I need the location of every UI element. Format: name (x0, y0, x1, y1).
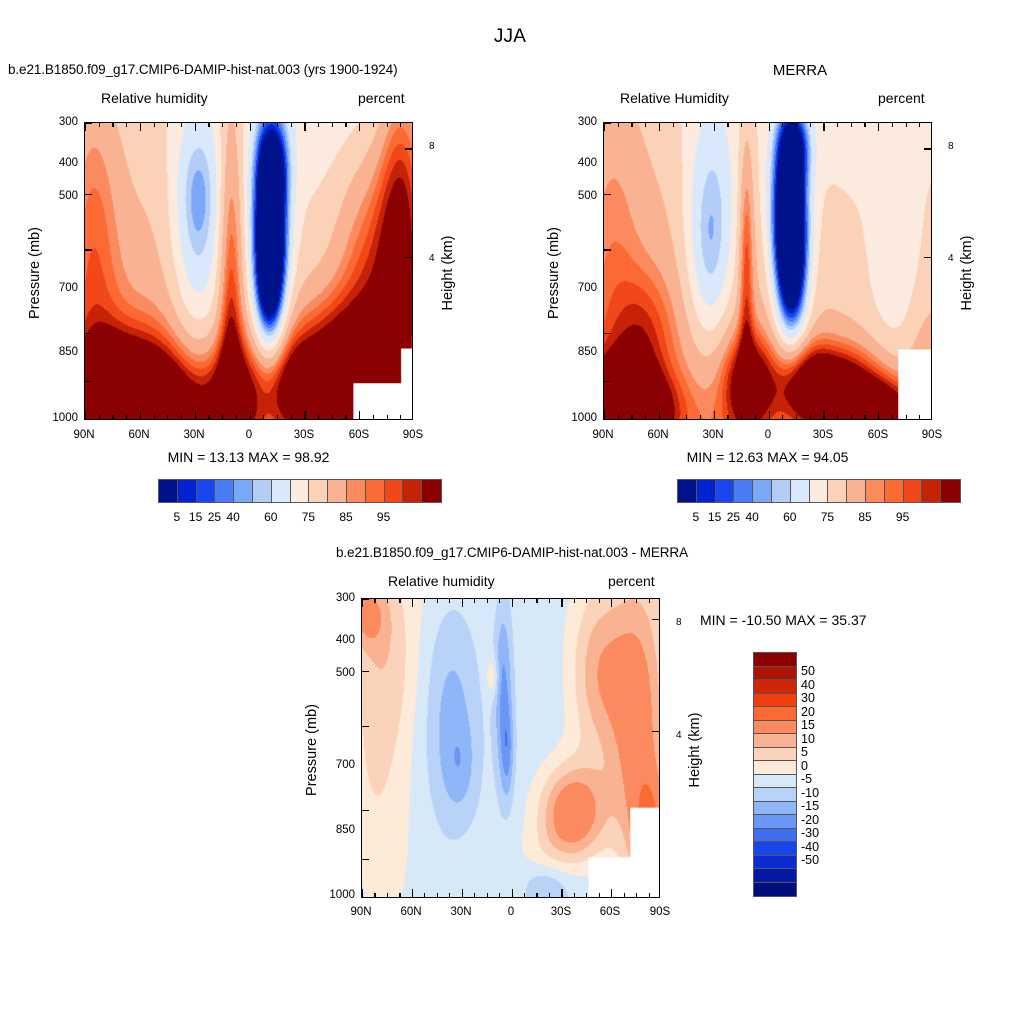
colorbar-cell (328, 480, 347, 502)
axis-tick-minor (126, 123, 127, 127)
minmax-merra: MIN = 12.63 MAX = 94.05 (603, 449, 932, 465)
ytick-500-difference: 500 (325, 667, 355, 679)
axis-tick-major (611, 889, 612, 897)
axis-tick-minor (741, 123, 742, 127)
axis-tick-minor (700, 415, 701, 419)
axis-tick-major (362, 889, 363, 897)
axis-tick-height (924, 257, 931, 258)
axis-tick-minor (796, 123, 797, 127)
axis-tick-minor (332, 415, 333, 419)
colorbar-cell (215, 480, 234, 502)
xtick-30N-model: 30N (179, 429, 209, 441)
axis-tick-minor (536, 893, 537, 897)
colorbar-tick-label: 40 (737, 510, 767, 524)
axis-tick-minor (549, 893, 550, 897)
xtick-60N-merra: 60N (643, 429, 673, 441)
axis-tick-pressure (604, 333, 611, 334)
axis-tick-pressure (362, 671, 369, 672)
ytick-1000-difference: 1000 (319, 889, 355, 901)
colorbar-tick-label: 75 (293, 510, 323, 524)
colorbar-tick-label: -10 (801, 786, 835, 800)
axis-tick-height (652, 731, 659, 732)
axis-tick-minor (837, 123, 838, 127)
xtick-90N-model: 90N (69, 429, 99, 441)
axis-tick-major (304, 123, 305, 131)
colorbar-cell (272, 480, 291, 502)
xtick-0-model: 0 (234, 429, 264, 441)
axis-tick-minor (782, 123, 783, 127)
ytick-300-merra: 300 (567, 116, 597, 128)
axis-tick-minor (126, 415, 127, 419)
y2-axis-label-merra: Height (km) (959, 213, 975, 333)
colorbar-cell (754, 829, 796, 843)
axis-tick-minor (424, 893, 425, 897)
axis-tick-major (561, 889, 562, 897)
colorbar-tick-label: -5 (801, 772, 835, 786)
axis-tick-major (604, 411, 605, 419)
axis-tick-minor (236, 415, 237, 419)
axis-tick-minor (645, 123, 646, 127)
axis-tick-minor (649, 893, 650, 897)
colorbar-cell (754, 815, 796, 829)
colorbar-cell (178, 480, 197, 502)
axis-tick-major (714, 123, 715, 131)
colorbar-cell (754, 788, 796, 802)
axis-tick-major (195, 123, 196, 131)
ytick-500-merra: 500 (567, 190, 597, 202)
axis-tick-minor (892, 415, 893, 419)
axis-tick-minor (167, 123, 168, 127)
colorbar-cell (904, 480, 923, 502)
axis-tick-minor (400, 123, 401, 127)
colorbar-tick-label: 85 (331, 510, 361, 524)
axis-tick-minor (437, 893, 438, 897)
colorbar-cell (754, 653, 796, 667)
axis-tick-minor (755, 123, 756, 127)
axis-tick-height (405, 257, 412, 258)
axis-tick-minor (222, 123, 223, 127)
axis-tick-minor (851, 123, 852, 127)
y-axis-label-difference: Pressure (mb) (304, 690, 320, 810)
axis-tick-minor (400, 415, 401, 419)
axis-tick-pressure (362, 810, 369, 811)
axis-tick-major (769, 411, 770, 419)
colorbar-cell (772, 480, 791, 502)
xtick-90S-merra: 90S (917, 429, 947, 441)
axis-tick-minor (624, 893, 625, 897)
y-axis-label-merra: Pressure (mb) (546, 213, 562, 333)
axis-tick-minor (864, 415, 865, 419)
variable-label-merra: Relative Humidity (620, 90, 729, 106)
axis-tick-minor (796, 415, 797, 419)
axis-tick-pressure (85, 194, 92, 195)
axis-tick-minor (263, 123, 264, 127)
axis-tick-major (878, 123, 879, 131)
axis-tick-minor (374, 893, 375, 897)
xtick-30N-difference: 30N (446, 906, 476, 918)
axis-tick-minor (332, 123, 333, 127)
colorbar-cell (366, 480, 385, 502)
axis-tick-minor (536, 599, 537, 603)
axis-tick-pressure (362, 726, 369, 727)
axis-tick-minor (700, 123, 701, 127)
axis-tick-minor (99, 415, 100, 419)
axis-tick-minor (167, 415, 168, 419)
axis-tick-minor (782, 415, 783, 419)
axis-tick-major (769, 123, 770, 131)
axis-tick-minor (487, 893, 488, 897)
axis-tick-pressure (85, 249, 92, 250)
axis-tick-minor (437, 599, 438, 603)
colorbar-cell (754, 748, 796, 762)
axis-tick-minor (727, 415, 728, 419)
axis-tick-minor (810, 123, 811, 127)
y-axis-label-model: Pressure (mb) (27, 213, 43, 333)
colorbar-tick-label: 15 (801, 718, 835, 732)
units-label-model: percent (358, 90, 405, 106)
axis-tick-minor (374, 599, 375, 603)
colorbar-tick-label: 95 (888, 510, 918, 524)
axis-tick-minor (487, 599, 488, 603)
axis-tick-minor (222, 415, 223, 419)
axis-tick-minor (686, 123, 687, 127)
colorbar-tick-label: 30 (801, 691, 835, 705)
colorbar-cell (754, 707, 796, 721)
ytick-500-model: 500 (48, 190, 78, 202)
axis-tick-minor (499, 599, 500, 603)
axis-tick-minor (574, 893, 575, 897)
xtick-60S-merra: 60S (863, 429, 893, 441)
axis-tick-major (823, 411, 824, 419)
axis-tick-minor (649, 599, 650, 603)
axis-tick-major (462, 889, 463, 897)
variable-label-difference: Relative humidity (388, 573, 495, 589)
contour-field-difference (362, 599, 659, 897)
axis-tick-minor (373, 415, 374, 419)
axis-tick-major (878, 411, 879, 419)
colorbar-tick-label: -20 (801, 813, 835, 827)
axis-tick-minor (810, 415, 811, 419)
axis-tick-minor (645, 415, 646, 419)
axis-tick-minor (236, 123, 237, 127)
colorbar-cell (197, 480, 216, 502)
xtick-60N-difference: 60N (396, 906, 426, 918)
ytick-850-merra: 850 (567, 346, 597, 358)
colorbar-cell (922, 480, 941, 502)
colorbar-cell (754, 856, 796, 870)
axis-tick-pressure (604, 249, 611, 250)
colorbar-cell (347, 480, 366, 502)
axis-tick-pressure (604, 194, 611, 195)
axis-tick-height (652, 619, 659, 620)
axis-tick-pressure (362, 859, 369, 860)
y2tick-4-difference: 4 (676, 730, 682, 741)
colorbar-tick-label: 40 (218, 510, 248, 524)
axis-tick-major (304, 411, 305, 419)
axis-tick-minor (499, 893, 500, 897)
colorbar-cell (754, 680, 796, 694)
axis-tick-minor (636, 893, 637, 897)
axis-tick-minor (291, 123, 292, 127)
axis-tick-pressure (604, 123, 611, 124)
minmax-model: MIN = 13.13 MAX = 98.92 (84, 449, 413, 465)
colorbar-cell (866, 480, 885, 502)
axis-tick-minor (586, 893, 587, 897)
colorbar-cell (697, 480, 716, 502)
minmax-difference: MIN = -10.50 MAX = 35.37 (700, 612, 867, 628)
axis-tick-pressure (85, 123, 92, 124)
axis-tick-minor (906, 123, 907, 127)
colorbar-cell (253, 480, 272, 502)
axis-tick-pressure (604, 381, 611, 382)
colorbar-cell (754, 883, 796, 897)
axis-tick-minor (631, 123, 632, 127)
colorbar-tick-label: -50 (801, 853, 835, 867)
xtick-90S-model: 90S (398, 429, 428, 441)
ytick-400-model: 400 (48, 157, 78, 169)
axis-tick-minor (277, 123, 278, 127)
units-label-merra: percent (878, 90, 925, 106)
contour-field-merra (604, 123, 931, 419)
colorbar-cell (754, 667, 796, 681)
axis-tick-minor (864, 123, 865, 127)
axis-tick-minor (318, 415, 319, 419)
axis-tick-minor (387, 415, 388, 419)
xtick-60N-model: 60N (124, 429, 154, 441)
y2tick-8-model: 8 (429, 141, 435, 152)
axis-tick-minor (387, 893, 388, 897)
axis-tick-minor (892, 123, 893, 127)
xtick-60S-model: 60S (344, 429, 374, 441)
axis-tick-minor (112, 123, 113, 127)
colorbar-difference (753, 652, 797, 897)
colorbar-cell (716, 480, 735, 502)
axis-tick-minor (549, 599, 550, 603)
axis-tick-minor (727, 123, 728, 127)
colorbar-cell (754, 842, 796, 856)
axis-tick-minor (387, 599, 388, 603)
axis-tick-minor (474, 893, 475, 897)
colorbar-tick-label: 10 (801, 732, 835, 746)
panel-title-model: b.e21.B1850.f09_g17.CMIP6-DAMIP-hist-nat… (8, 62, 397, 77)
axis-tick-minor (373, 123, 374, 127)
ytick-850-difference: 850 (325, 824, 355, 836)
colorbar-cell (234, 480, 253, 502)
axis-tick-minor (686, 415, 687, 419)
xtick-30S-merra: 30S (808, 429, 838, 441)
colorbar-cell (422, 480, 441, 502)
colorbar-tick-label: 50 (801, 664, 835, 678)
y2tick-8-merra: 8 (948, 141, 954, 152)
axis-tick-minor (181, 123, 182, 127)
axis-tick-minor (112, 415, 113, 419)
colorbar-cell (754, 694, 796, 708)
axis-tick-minor (755, 415, 756, 419)
colorbar-tick-label: 5 (801, 745, 835, 759)
axis-tick-major (659, 411, 660, 419)
ytick-1000-merra: 1000 (561, 412, 597, 424)
axis-tick-minor (449, 599, 450, 603)
axis-tick-minor (631, 415, 632, 419)
ytick-300-model: 300 (48, 116, 78, 128)
axis-tick-height (924, 148, 931, 149)
ytick-400-merra: 400 (567, 157, 597, 169)
axis-tick-minor (636, 599, 637, 603)
axis-tick-minor (154, 123, 155, 127)
axis-tick-minor (291, 415, 292, 419)
axis-tick-minor (919, 123, 920, 127)
colorbar-tick-label: 75 (812, 510, 842, 524)
axis-tick-minor (399, 599, 400, 603)
colorbar-tick-label: 60 (775, 510, 805, 524)
plot-area-difference (361, 598, 660, 898)
axis-tick-major (561, 599, 562, 607)
axis-tick-minor (906, 415, 907, 419)
colorbar-cell (754, 721, 796, 735)
axis-tick-major (250, 123, 251, 131)
axis-tick-major (512, 599, 513, 607)
axis-tick-minor (345, 415, 346, 419)
y2tick-8-difference: 8 (676, 617, 682, 628)
ytick-850-model: 850 (48, 346, 78, 358)
xtick-90N-merra: 90N (588, 429, 618, 441)
colorbar-cell (754, 802, 796, 816)
axis-tick-minor (277, 415, 278, 419)
axis-tick-minor (524, 893, 525, 897)
axis-tick-major (659, 123, 660, 131)
axis-tick-minor (345, 123, 346, 127)
axis-tick-major (611, 599, 612, 607)
axis-tick-minor (574, 599, 575, 603)
axis-tick-minor (618, 123, 619, 127)
axis-tick-minor (673, 415, 674, 419)
colorbar-tick-label: -15 (801, 799, 835, 813)
xtick-90S-difference: 90S (645, 906, 675, 918)
ytick-300-difference: 300 (325, 592, 355, 604)
colorbar-cell (810, 480, 829, 502)
axis-tick-minor (474, 599, 475, 603)
axis-tick-pressure (85, 381, 92, 382)
xtick-30S-difference: 30S (546, 906, 576, 918)
y2tick-4-merra: 4 (948, 253, 954, 264)
colorbar-tick-label: 85 (850, 510, 880, 524)
colorbar-cell (159, 480, 178, 502)
axis-tick-minor (599, 599, 600, 603)
colorbar-cell (847, 480, 866, 502)
axis-tick-minor (399, 893, 400, 897)
axis-tick-minor (208, 415, 209, 419)
axis-tick-minor (599, 893, 600, 897)
axis-tick-major (359, 411, 360, 419)
colorbar-absolute-merra (677, 479, 961, 503)
colorbar-cell (678, 480, 697, 502)
axis-tick-minor (624, 599, 625, 603)
contour-field-model (85, 123, 412, 419)
panel-title-difference: b.e21.B1850.f09_g17.CMIP6-DAMIP-hist-nat… (232, 545, 792, 560)
axis-tick-major (604, 123, 605, 131)
season-title: JJA (430, 26, 590, 48)
colorbar-tick-label: 20 (801, 705, 835, 719)
xtick-0-difference: 0 (496, 906, 526, 918)
colorbar-cell (791, 480, 810, 502)
panel-title-merra: MERRA (740, 62, 860, 79)
plot-area-merra (603, 122, 932, 420)
colorbar-cell (754, 734, 796, 748)
colorbar-cell (754, 775, 796, 789)
axis-tick-minor (387, 123, 388, 127)
axis-tick-minor (154, 415, 155, 419)
units-label-difference: percent (608, 573, 655, 589)
y2-axis-label-model: Height (km) (440, 213, 456, 333)
axis-tick-major (85, 411, 86, 419)
axis-tick-minor (586, 599, 587, 603)
xtick-30S-model: 30S (289, 429, 319, 441)
axis-tick-pressure (362, 599, 369, 600)
colorbar-cell (734, 480, 753, 502)
axis-tick-major (359, 123, 360, 131)
axis-tick-minor (524, 599, 525, 603)
variable-label-model: Relative humidity (101, 90, 208, 106)
axis-tick-major (250, 411, 251, 419)
axis-tick-major (195, 411, 196, 419)
colorbar-cell (753, 480, 772, 502)
y2tick-4-model: 4 (429, 253, 435, 264)
axis-tick-major (412, 599, 413, 607)
colorbar-cell (941, 480, 960, 502)
axis-tick-pressure (85, 333, 92, 334)
axis-tick-major (462, 599, 463, 607)
axis-tick-minor (318, 123, 319, 127)
axis-tick-minor (919, 415, 920, 419)
axis-tick-major (362, 599, 363, 607)
xtick-90N-difference: 90N (346, 906, 376, 918)
axis-tick-minor (741, 415, 742, 419)
axis-tick-major (85, 123, 86, 131)
axis-tick-minor (181, 415, 182, 419)
axis-tick-minor (618, 415, 619, 419)
axis-tick-minor (449, 893, 450, 897)
colorbar-cell (754, 761, 796, 775)
axis-tick-minor (99, 123, 100, 127)
xtick-60S-difference: 60S (595, 906, 625, 918)
colorbar-cell (885, 480, 904, 502)
colorbar-tick-label: 95 (369, 510, 399, 524)
colorbar-cell (309, 480, 328, 502)
ytick-400-difference: 400 (325, 634, 355, 646)
axis-tick-minor (263, 415, 264, 419)
ytick-700-difference: 700 (325, 759, 355, 771)
axis-tick-height (405, 148, 412, 149)
colorbar-absolute-model (158, 479, 442, 503)
colorbar-tick-label: 0 (801, 759, 835, 773)
ytick-1000-model: 1000 (42, 412, 78, 424)
colorbar-tick-label: 40 (801, 678, 835, 692)
axis-tick-major (823, 123, 824, 131)
axis-tick-major (412, 889, 413, 897)
axis-tick-major (140, 123, 141, 131)
axis-tick-minor (673, 123, 674, 127)
colorbar-cell (385, 480, 404, 502)
axis-tick-minor (851, 415, 852, 419)
colorbar-tick-label: -40 (801, 840, 835, 854)
colorbar-tick-label: -30 (801, 826, 835, 840)
axis-tick-major (512, 889, 513, 897)
colorbar-cell (828, 480, 847, 502)
xtick-0-merra: 0 (753, 429, 783, 441)
colorbar-cell (291, 480, 310, 502)
axis-tick-major (140, 411, 141, 419)
ytick-700-merra: 700 (567, 282, 597, 294)
